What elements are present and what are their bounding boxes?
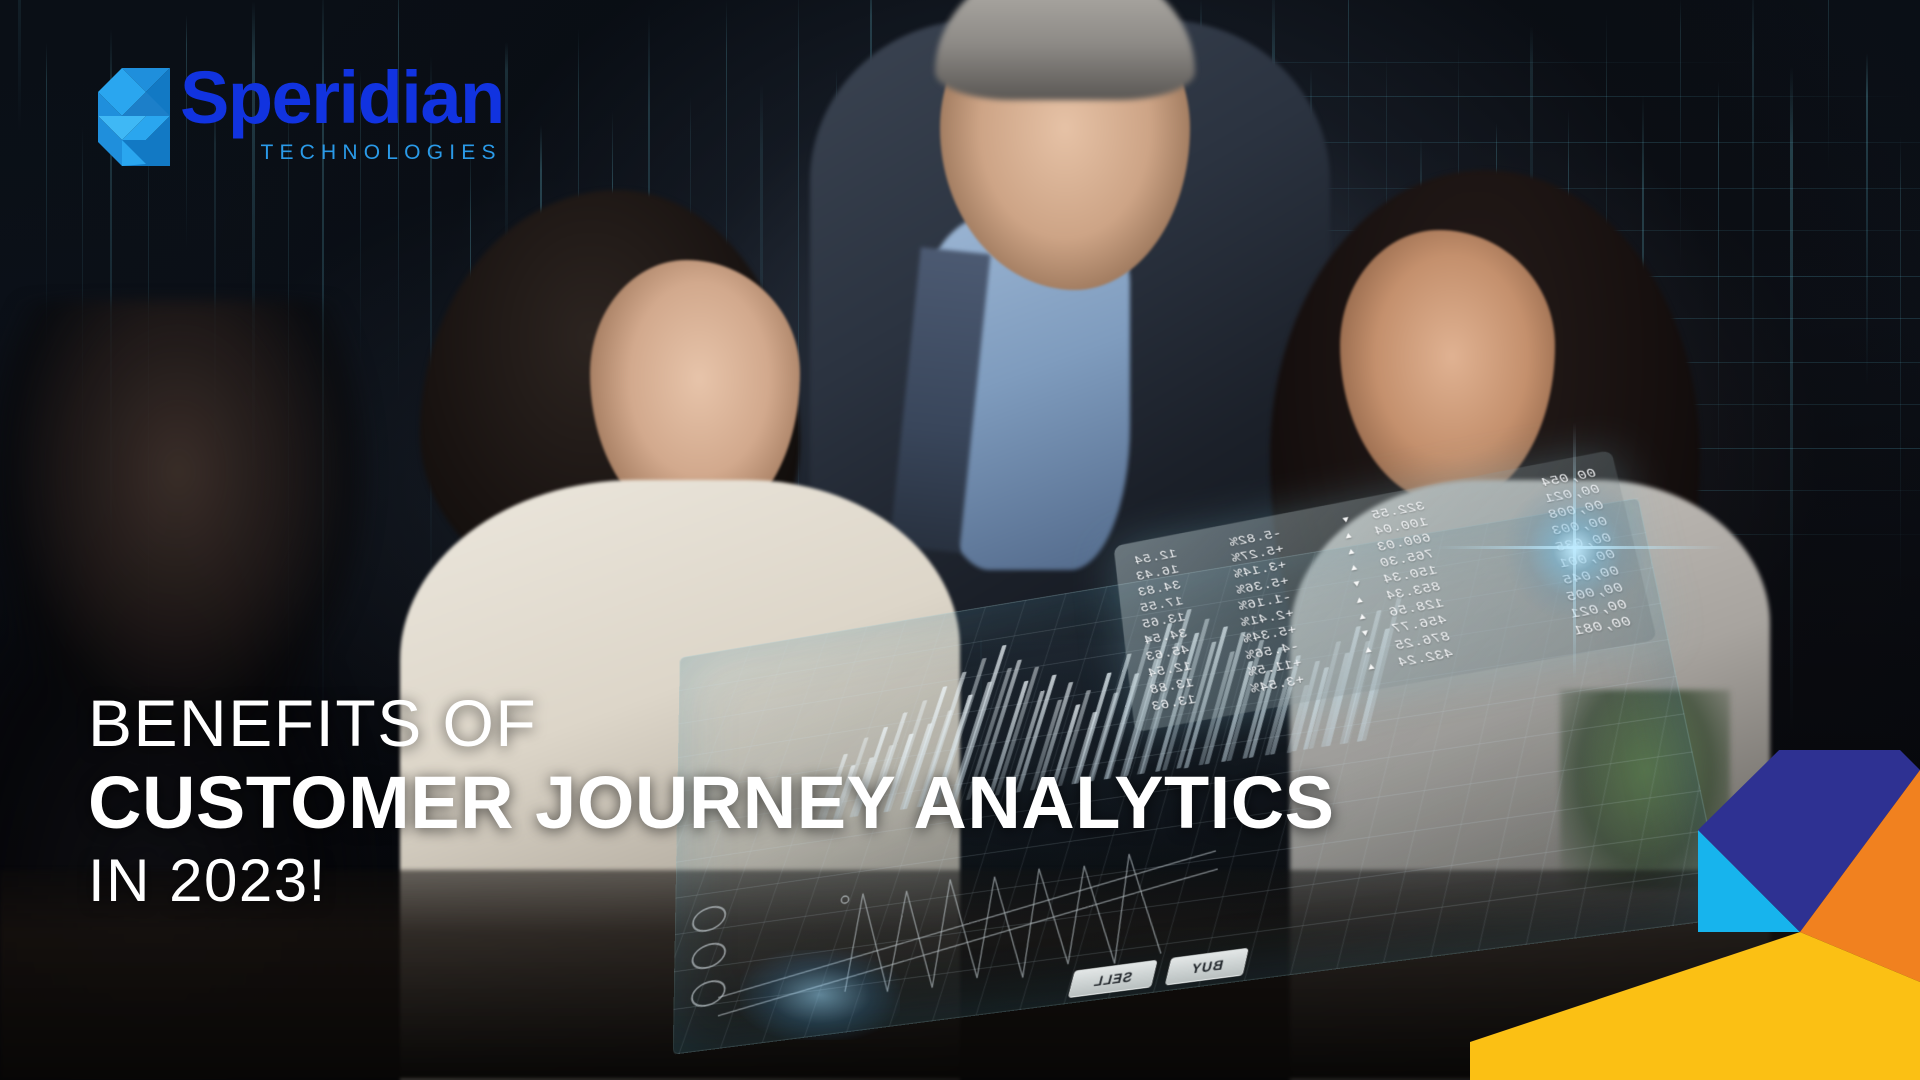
brand-name: Speridian xyxy=(180,62,504,135)
brand-tagline: TECHNOLOGIES xyxy=(180,141,502,165)
dial-knob xyxy=(688,941,729,971)
background-streak xyxy=(1900,136,1901,620)
page-title: BENEFITS OF CUSTOMER JOURNEY ANALYTICS I… xyxy=(88,690,1335,912)
headline-line-3: IN 2023! xyxy=(88,849,1335,912)
background-streak xyxy=(1718,81,1719,500)
background-streak xyxy=(1866,53,1868,400)
background-streak xyxy=(1790,67,1793,760)
screen-dial-knobs xyxy=(691,904,726,1021)
headline-line-1: BENEFITS OF xyxy=(88,690,1335,756)
speridian-chevron-logo-mark xyxy=(92,68,170,166)
background-streak xyxy=(1828,0,1829,180)
brand-logo[interactable]: Speridian TECHNOLOGIES xyxy=(92,62,504,166)
person-man-hair xyxy=(935,0,1195,100)
marketing-banner: 00,054322.55▼-5.82%12.5400,021100.04▲+5.… xyxy=(0,0,1920,1080)
background-streak xyxy=(1348,0,1349,260)
headline-line-2: CUSTOMER JOURNEY ANALYTICS xyxy=(88,762,1335,845)
background-streak xyxy=(18,0,21,140)
background-streak xyxy=(1680,0,1681,280)
dial-knob xyxy=(688,978,729,1009)
background-streak xyxy=(1752,0,1754,540)
